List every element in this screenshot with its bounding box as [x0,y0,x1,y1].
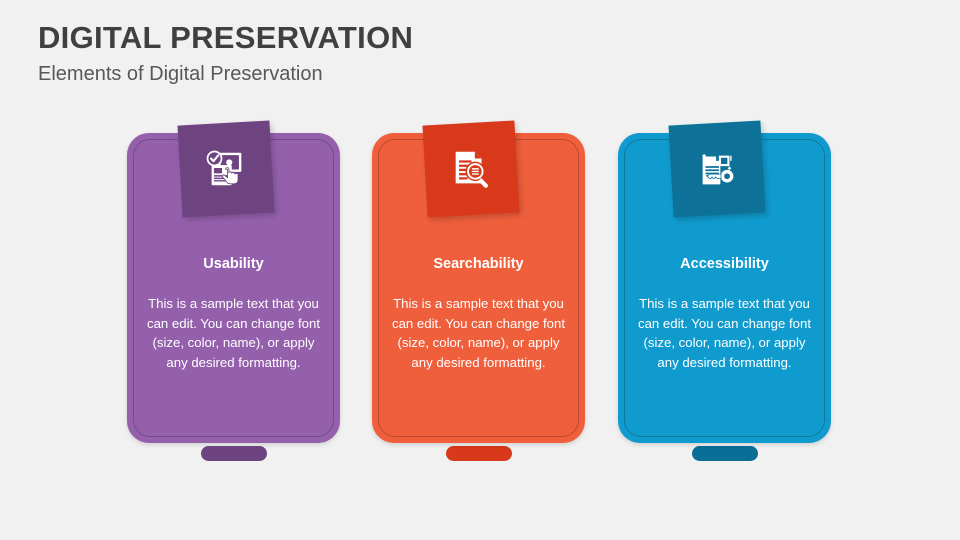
card-body-text: This is a sample text that you can edit.… [386,294,571,372]
card-title: Usability [127,256,340,272]
card-stand-tab [446,446,512,461]
card-body-text: This is a sample text that you can edit.… [632,294,817,372]
card-title: Accessibility [618,256,831,272]
icon-badge [177,121,274,218]
document-magnifier-icon [448,146,494,192]
card-title: Searchability [372,256,585,272]
icon-badge [668,121,765,218]
card-row: Usability This is a sample text that you… [0,0,960,540]
document-check-hand-icon [203,146,249,192]
card-body-text: This is a sample text that you can edit.… [141,294,326,372]
card-searchability[interactable]: Searchability This is a sample text that… [372,133,585,453]
document-key-icon [694,146,740,192]
card-usability[interactable]: Usability This is a sample text that you… [127,133,340,453]
icon-badge [422,121,519,218]
card-accessibility[interactable]: Accessibility This is a sample text that… [618,133,831,453]
card-stand-tab [201,446,267,461]
card-stand-tab [692,446,758,461]
